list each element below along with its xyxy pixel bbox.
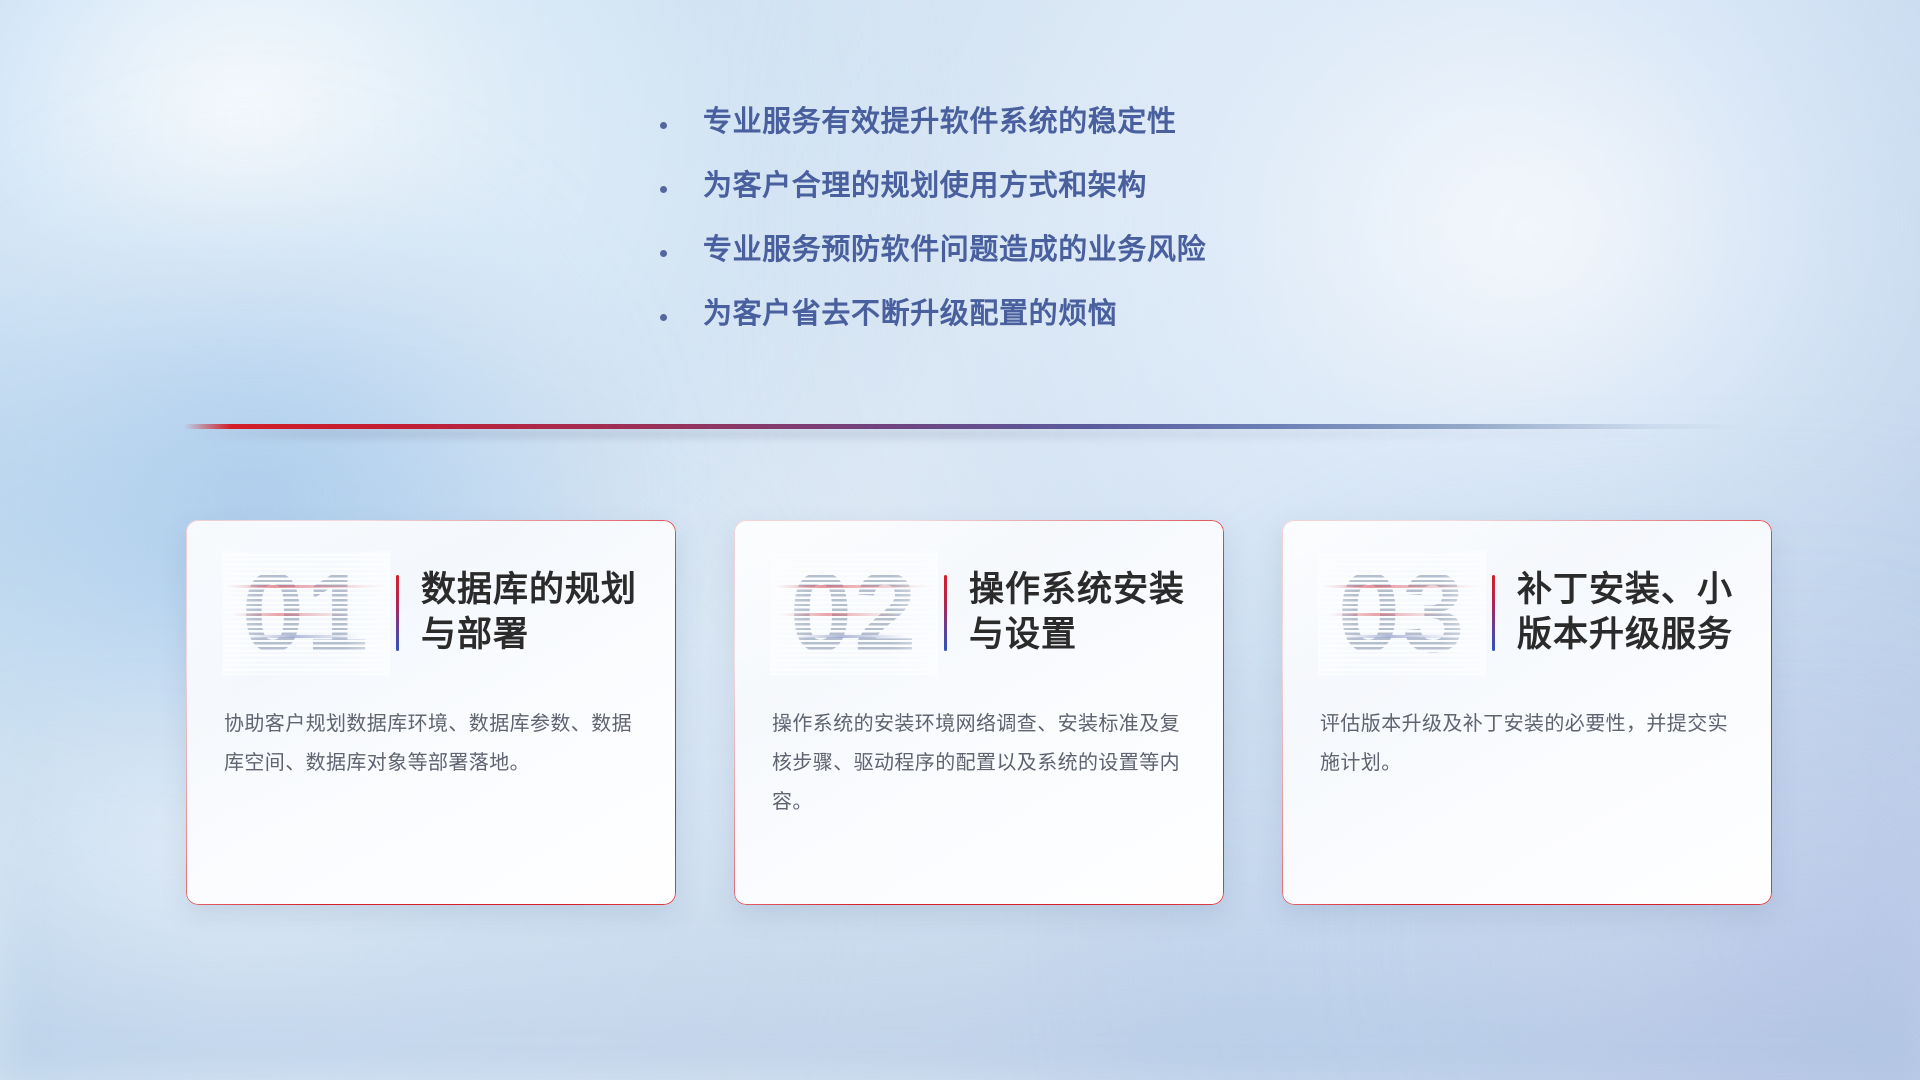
benefits-bullet-list: 专业服务有效提升软件系统的稳定性 为客户合理的规划使用方式和架构 专业服务预防软… — [660, 104, 1420, 360]
service-card[interactable]: 03 补丁安装、小版本升级服务 评估版本升级及补丁安装的必要性，并提交实施计划。 — [1282, 520, 1772, 905]
list-item: 专业服务预防软件问题造成的业务风险 — [660, 232, 1420, 269]
bullet-text: 专业服务预防软件问题造成的业务风险 — [703, 232, 1206, 269]
divider-shadow — [198, 430, 1742, 438]
bullet-dot-icon — [660, 250, 667, 257]
card-number-tint-blue — [1344, 635, 1455, 638]
card-number-tint-red-2 — [232, 613, 350, 616]
card-number-tint-red-1 — [226, 585, 387, 588]
card-title: 数据库的规划与部署 — [421, 568, 676, 656]
card-title-rule — [944, 575, 947, 651]
card-number-tint-blue — [248, 635, 359, 638]
slide-canvas: 专业服务有效提升软件系统的稳定性 为客户合理的规划使用方式和架构 专业服务预防软… — [0, 0, 1920, 1080]
card-number-graphic: 02 — [770, 551, 938, 675]
card-body-text: 评估版本升级及补丁安装的必要性，并提交实施计划。 — [1282, 705, 1772, 783]
list-item: 为客户省去不断升级配置的烦恼 — [660, 296, 1420, 333]
divider-line — [184, 424, 1744, 429]
card-body-text: 协助客户规划数据库环境、数据库参数、数据库空间、数据库对象等部署落地。 — [186, 705, 676, 783]
card-number-tint-red-2 — [780, 613, 898, 616]
card-body-text: 操作系统的安装环境网络调查、安装标准及复核步骤、驱动程序的配置以及系统的设置等内… — [734, 705, 1224, 822]
card-header: 03 补丁安装、小版本升级服务 — [1282, 520, 1772, 705]
list-item: 为客户合理的规划使用方式和架构 — [660, 168, 1420, 205]
service-card[interactable]: 01 数据库的规划与部署 协助客户规划数据库环境、数据库参数、数据库空间、数据库… — [186, 520, 676, 905]
bullet-dot-icon — [660, 314, 667, 321]
card-number-tint-blue — [796, 635, 907, 638]
card-number-graphic: 01 — [222, 551, 390, 675]
card-header: 02 操作系统安装与设置 — [734, 520, 1224, 705]
service-card-row: 01 数据库的规划与部署 协助客户规划数据库环境、数据库参数、数据库空间、数据库… — [186, 520, 1772, 905]
card-title: 操作系统安装与设置 — [969, 568, 1224, 656]
bullet-text: 专业服务有效提升软件系统的稳定性 — [703, 104, 1177, 141]
card-title-rule — [1492, 575, 1495, 651]
card-title: 补丁安装、小版本升级服务 — [1517, 568, 1772, 656]
gradient-divider — [184, 424, 1744, 442]
bullet-text: 为客户省去不断升级配置的烦恼 — [703, 296, 1117, 333]
list-item: 专业服务有效提升软件系统的稳定性 — [660, 104, 1420, 141]
card-number-tint-red-1 — [774, 585, 935, 588]
card-title-rule — [396, 575, 399, 651]
bullet-dot-icon — [660, 122, 667, 129]
card-number-tint-red-1 — [1322, 585, 1483, 588]
card-header: 01 数据库的规划与部署 — [186, 520, 676, 705]
service-card[interactable]: 02 操作系统安装与设置 操作系统的安装环境网络调查、安装标准及复核步骤、驱动程… — [734, 520, 1224, 905]
bullet-dot-icon — [660, 186, 667, 193]
card-number-tint-red-2 — [1328, 613, 1446, 616]
bullet-text: 为客户合理的规划使用方式和架构 — [703, 168, 1147, 205]
card-number-graphic: 03 — [1318, 551, 1486, 675]
